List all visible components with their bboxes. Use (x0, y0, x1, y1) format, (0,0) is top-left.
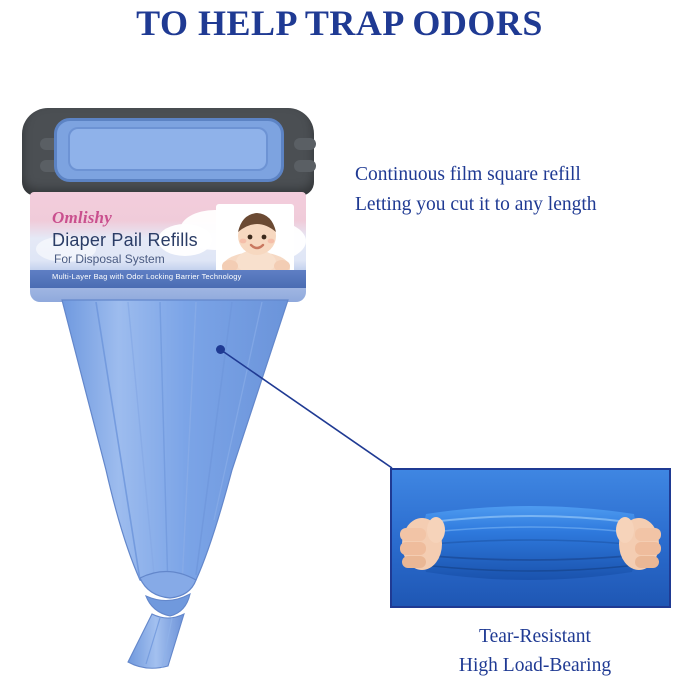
callout-leader-line (221, 350, 392, 468)
product-infographic: TO HELP TRAP ODORS Continuous film squar… (0, 0, 679, 683)
stretched-bag-photo (392, 470, 669, 606)
lid-notch-right-lower (294, 160, 316, 172)
diaper-pail-refill-product: Omlishy Diaper Pail Refills For Disposal… (12, 108, 322, 308)
inset-caption-line-2: High Load-Bearing (390, 651, 679, 680)
callout-dot (216, 345, 225, 354)
feature-copy-line-2: Letting you cut it to any length (355, 190, 679, 220)
inset-caption-line-1: Tear-Resistant (390, 622, 679, 651)
bag-tail (128, 614, 184, 668)
bag-knot (140, 571, 196, 616)
baby-photo (216, 204, 294, 278)
brand-name: Omlishy (52, 208, 112, 228)
inset-photo-panel (390, 468, 671, 608)
product-label-wrap: Omlishy Diaper Pail Refills For Disposal… (30, 192, 306, 302)
inset-caption: Tear-Resistant High Load-Bearing (390, 622, 679, 680)
feature-copy: Continuous film square refill Letting yo… (355, 160, 679, 220)
feature-copy-line-1: Continuous film square refill (355, 160, 679, 190)
lid-notch-right-upper (294, 138, 316, 150)
page-title: TO HELP TRAP ODORS (0, 2, 679, 44)
bag-body (62, 300, 288, 592)
product-subtitle: For Disposal System (54, 252, 165, 266)
lid-inner-panel-core (68, 127, 268, 171)
product-title: Diaper Pail Refills (52, 230, 198, 251)
label-band-text: Multi-Layer Bag with Odor Locking Barrie… (52, 272, 242, 281)
